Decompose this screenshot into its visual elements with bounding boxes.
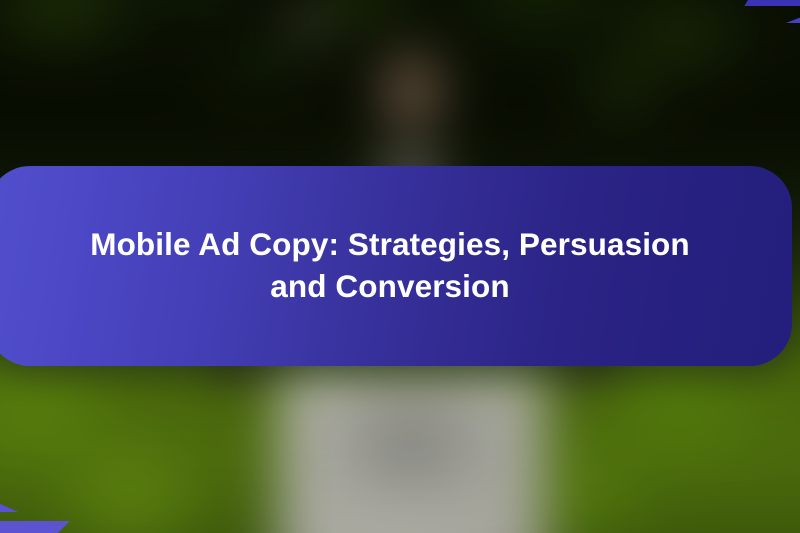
hero-card: Mobile Ad Copy: Strategies, Persuasion a… <box>0 0 800 533</box>
accent-stripe-bottom-left <box>0 521 70 533</box>
page-title: Mobile Ad Copy: Strategies, Persuasion a… <box>60 223 720 309</box>
title-banner: Mobile Ad Copy: Strategies, Persuasion a… <box>0 166 792 366</box>
accent-stripe-top-right <box>744 0 800 6</box>
page-title-line-1: Mobile Ad Copy: Strategies, Persuasion <box>90 226 690 262</box>
page-title-line-2: and Conversion <box>270 268 509 304</box>
